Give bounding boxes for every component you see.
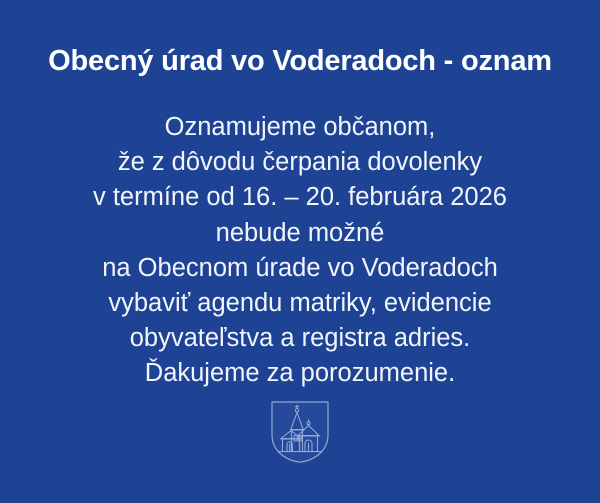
notice-body-text: Oznamujeme občanom, že z dôvodu čerpania… [0,110,600,392]
coat-of-arms-icon [269,399,331,465]
notice-line: vybaviť agendu matriky, evidencie [0,286,600,321]
notice-line: obyvateľstva a registra adries. [0,321,600,356]
notice-line: Oznamujeme občanom, [0,110,600,145]
notice-card: Obecný úrad vo Voderadoch - oznam Oznamu… [0,0,600,503]
notice-line: v termíne od 16. – 20. februára 2026 [0,180,600,215]
notice-line: nebude možné [0,216,600,251]
notice-line: na Obecnom úrade vo Voderadoch [0,251,600,286]
page-title: Obecný úrad vo Voderadoch - oznam [0,44,600,78]
notice-line: že z dôvodu čerpania dovolenky [0,145,600,180]
notice-line: Ďakujeme za porozumenie. [0,356,600,391]
